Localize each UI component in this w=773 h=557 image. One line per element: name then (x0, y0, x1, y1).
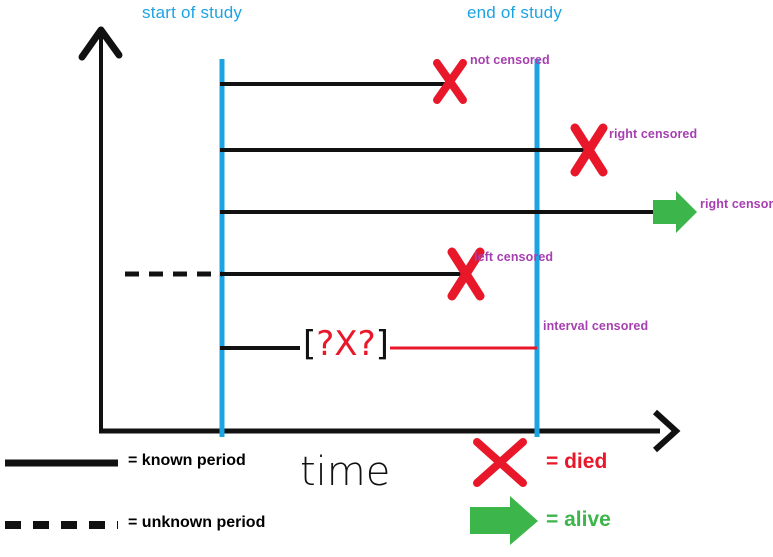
diagram-canvas: start of study end of study not censored… (0, 0, 773, 557)
subject-4-censor-label: left censored (474, 250, 544, 264)
legend-died-icon (477, 442, 523, 483)
subject-5-censor-label: interval censored (543, 319, 623, 333)
vertical-axis (82, 30, 119, 432)
subject-1-censor-label: not censored (470, 53, 540, 67)
time-axis (99, 412, 676, 450)
interval-unknown-text: ?X? (316, 324, 375, 364)
legend-died-label: = died (546, 450, 607, 474)
subject-2-censor-label: right censored (609, 127, 689, 141)
subject-4-track (125, 252, 480, 296)
interval-bracket-icon: [?X?] (303, 324, 389, 364)
legend-unknown-period-label: = unknown period (128, 514, 265, 532)
legend-alive-label: = alive (546, 508, 611, 532)
red-x-icon (437, 63, 463, 100)
green-arrow-icon (653, 191, 697, 233)
time-axis-label: time (300, 450, 390, 495)
interval-open-bracket: [ (303, 324, 316, 364)
legend-known-period-label: = known period (128, 452, 246, 470)
subject-2-track (220, 128, 603, 172)
subject-1-track (220, 63, 463, 100)
subject-3-censor-label: right censored (700, 197, 773, 211)
legend-alive-icon (470, 496, 538, 545)
interval-close-bracket: ] (376, 324, 389, 364)
subject-3-track (220, 191, 697, 233)
end-of-study-label: end of study (467, 3, 562, 22)
start-of-study-label: start of study (142, 3, 242, 22)
